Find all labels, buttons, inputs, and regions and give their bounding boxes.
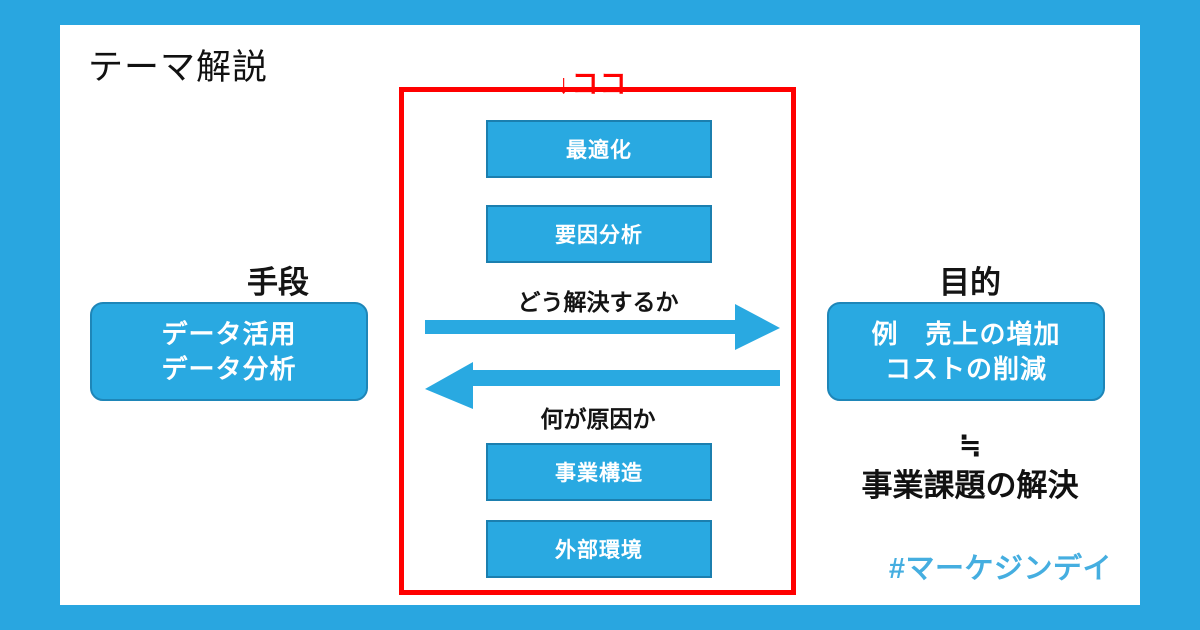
purpose-box-line-2: コストの削減 [885, 352, 1047, 386]
nearly-equal-symbol: ≒ [860, 430, 1080, 461]
center-box-factor-analysis-label: 要因分析 [555, 219, 643, 249]
hashtag-label: #マーケジンデイ [889, 545, 1112, 587]
conclusion-text: 事業課題の解決 [800, 460, 1140, 505]
center-box-external-environment: 外部環境 [486, 520, 712, 578]
means-box: データ活用 データ分析 [90, 302, 368, 401]
slide-white-area: テーマ解説 ↓ココ 手段 データ活用 データ分析 目的 例 売上の増加 コストの… [60, 25, 1140, 605]
arrow-left [425, 362, 780, 412]
center-box-factor-analysis: 要因分析 [486, 205, 712, 263]
center-box-business-structure-label: 事業構造 [555, 457, 643, 487]
purpose-box-line-1: 例 売上の増加 [871, 317, 1060, 351]
page-title: テーマ解説 [88, 39, 268, 90]
means-box-line-2: データ分析 [161, 352, 296, 386]
center-box-business-structure: 事業構造 [486, 443, 712, 501]
center-box-optimization-label: 最適化 [566, 134, 632, 164]
heading-purpose: 目的 [860, 257, 1080, 302]
arrow-right [425, 302, 780, 352]
arrow-right-icon [425, 302, 780, 352]
slide-canvas: テーマ解説 ↓ココ 手段 データ活用 データ分析 目的 例 売上の増加 コストの… [0, 0, 1200, 630]
purpose-box: 例 売上の増加 コストの削減 [827, 302, 1105, 401]
means-box-line-1: データ活用 [161, 317, 296, 351]
center-box-optimization: 最適化 [486, 120, 712, 178]
heading-means: 手段 [168, 257, 388, 302]
arrow-left-icon [425, 362, 780, 412]
center-box-external-environment-label: 外部環境 [555, 534, 643, 564]
